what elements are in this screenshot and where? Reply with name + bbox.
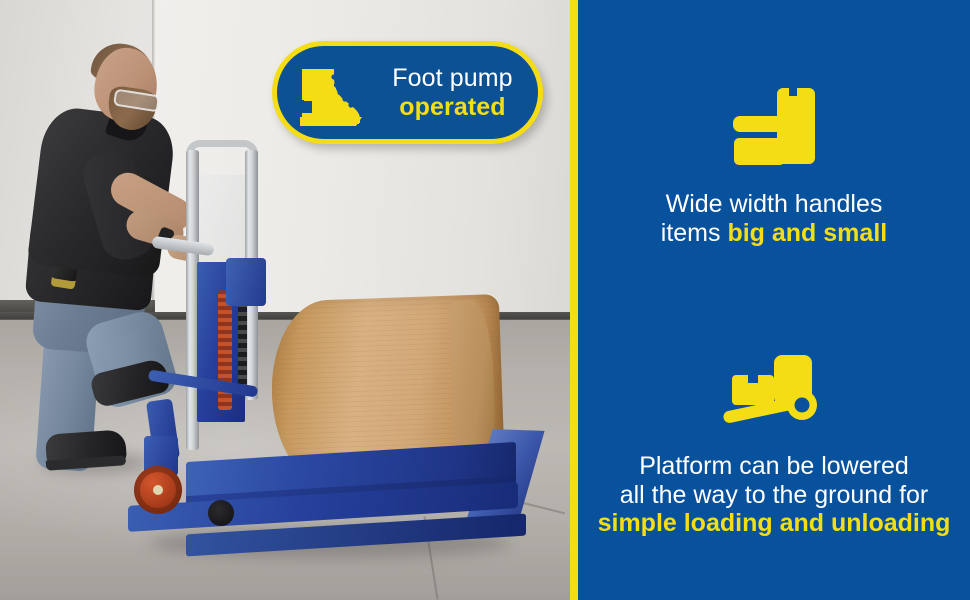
badge-text: Foot pump operated bbox=[377, 64, 538, 122]
vertical-yellow-divider bbox=[570, 0, 578, 600]
hand-truck-with-box-icon bbox=[722, 353, 826, 427]
feature-panel: Wide width handles items big and small bbox=[578, 0, 970, 600]
caster-wheel-hub bbox=[153, 485, 163, 495]
feature-wide-width: Wide width handles items big and small bbox=[578, 86, 970, 247]
feature-2-line-3-highlight: simple loading and unloading bbox=[598, 509, 951, 537]
product-feature-banner: Foot pump operated Wide width handles it… bbox=[0, 0, 970, 600]
feature-low-platform-text: Platform can be lowered all the way to t… bbox=[586, 452, 963, 538]
two-boxes-big-and-small-icon bbox=[731, 86, 817, 166]
badge-line-2: operated bbox=[377, 93, 528, 122]
badge-line-1: Foot pump bbox=[377, 64, 528, 93]
cart-rear-wheel bbox=[208, 500, 234, 526]
feature-2-line-1: Platform can be lowered bbox=[639, 452, 909, 480]
feature-2-line-2: all the way to the ground for bbox=[620, 481, 929, 509]
product-photo: Foot pump operated bbox=[0, 0, 570, 600]
foot-pump-badge: Foot pump operated bbox=[272, 41, 543, 144]
work-boot-on-pedal-icon bbox=[277, 59, 377, 127]
feature-1-line-2-plain: items bbox=[661, 219, 728, 247]
feature-1-line-1: Wide width handles bbox=[666, 190, 883, 218]
cart-pump-housing bbox=[226, 258, 266, 306]
feature-low-platform: Platform can be lowered all the way to t… bbox=[578, 353, 970, 538]
feature-1-line-2-highlight: big and small bbox=[727, 219, 887, 247]
feature-wide-width-text: Wide width handles items big and small bbox=[649, 190, 899, 247]
